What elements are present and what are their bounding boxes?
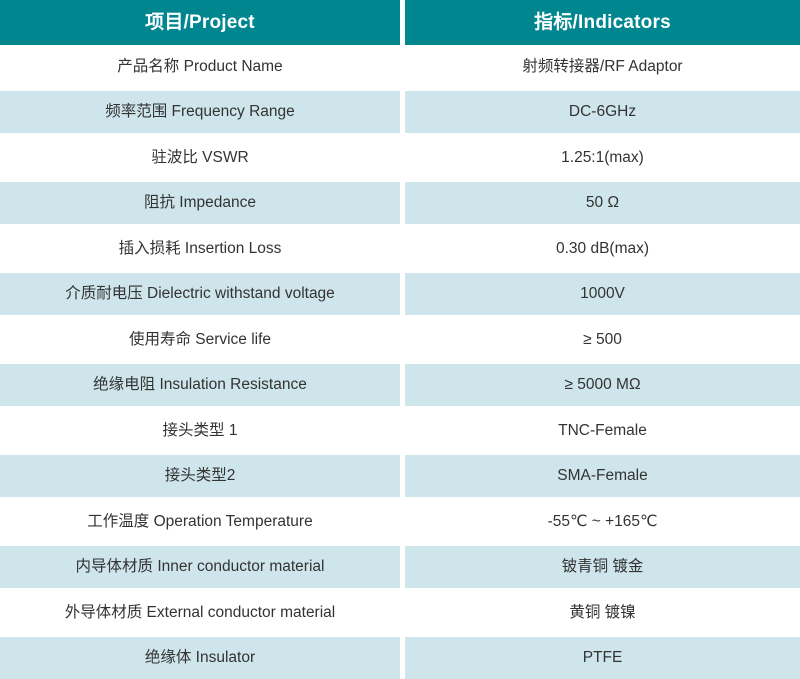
cell-project: 驻波比 VSWR xyxy=(0,136,400,179)
specification-table: 项目/Project 指标/Indicators 产品名称 Product Na… xyxy=(0,0,800,679)
table-row: 接头类型2 SMA-Female xyxy=(0,455,800,498)
table-row: 工作温度 Operation Temperature -55℃ ~ +165℃ xyxy=(0,500,800,543)
cell-indicator: 1.25:1(max) xyxy=(405,136,800,179)
table-row: 外导体材质 External conductor material 黄铜 镀镍 xyxy=(0,591,800,634)
cell-project: 绝缘电阻 Insulation Resistance xyxy=(0,364,400,407)
cell-indicator: 黄铜 镀镍 xyxy=(405,591,800,634)
table-row: 产品名称 Product Name 射频转接器/RF Adaptor xyxy=(0,45,800,88)
table-header-row: 项目/Project 指标/Indicators xyxy=(0,0,800,45)
cell-indicator: 铍青铜 镀金 xyxy=(405,546,800,589)
cell-project: 插入损耗 Insertion Loss xyxy=(0,227,400,270)
cell-indicator: SMA-Female xyxy=(405,455,800,498)
cell-indicator: PTFE xyxy=(405,637,800,679)
cell-indicator: -55℃ ~ +165℃ xyxy=(405,500,800,543)
table-row: 介质耐电压 Dielectric withstand voltage 1000V xyxy=(0,273,800,316)
table-row: 接头类型 1 TNC-Female xyxy=(0,409,800,452)
cell-project: 产品名称 Product Name xyxy=(0,45,400,88)
table-row: 插入损耗 Insertion Loss 0.30 dB(max) xyxy=(0,227,800,270)
cell-indicator: ≥ 500 xyxy=(405,318,800,361)
cell-project: 使用寿命 Service life xyxy=(0,318,400,361)
column-header-project: 项目/Project xyxy=(0,0,400,45)
cell-project: 阻抗 Impedance xyxy=(0,182,400,225)
column-header-indicators: 指标/Indicators xyxy=(405,0,800,45)
table-row: 绝缘体 Insulator PTFE xyxy=(0,637,800,679)
cell-indicator: 射频转接器/RF Adaptor xyxy=(405,45,800,88)
table-row: 阻抗 Impedance 50 Ω xyxy=(0,182,800,225)
cell-project: 内导体材质 Inner conductor material xyxy=(0,546,400,589)
cell-project: 绝缘体 Insulator xyxy=(0,637,400,679)
cell-indicator: 50 Ω xyxy=(405,182,800,225)
table-row: 内导体材质 Inner conductor material 铍青铜 镀金 xyxy=(0,546,800,589)
table-row: 使用寿命 Service life ≥ 500 xyxy=(0,318,800,361)
cell-indicator: 1000V xyxy=(405,273,800,316)
table-row: 绝缘电阻 Insulation Resistance ≥ 5000 MΩ xyxy=(0,364,800,407)
table-row: 驻波比 VSWR 1.25:1(max) xyxy=(0,136,800,179)
cell-project: 外导体材质 External conductor material xyxy=(0,591,400,634)
cell-project: 介质耐电压 Dielectric withstand voltage xyxy=(0,273,400,316)
table-row: 频率范围 Frequency Range DC-6GHz xyxy=(0,91,800,134)
cell-project: 工作温度 Operation Temperature xyxy=(0,500,400,543)
cell-project: 接头类型 1 xyxy=(0,409,400,452)
cell-project: 接头类型2 xyxy=(0,455,400,498)
cell-indicator: TNC-Female xyxy=(405,409,800,452)
cell-indicator: ≥ 5000 MΩ xyxy=(405,364,800,407)
cell-indicator: 0.30 dB(max) xyxy=(405,227,800,270)
cell-project: 频率范围 Frequency Range xyxy=(0,91,400,134)
cell-indicator: DC-6GHz xyxy=(405,91,800,134)
